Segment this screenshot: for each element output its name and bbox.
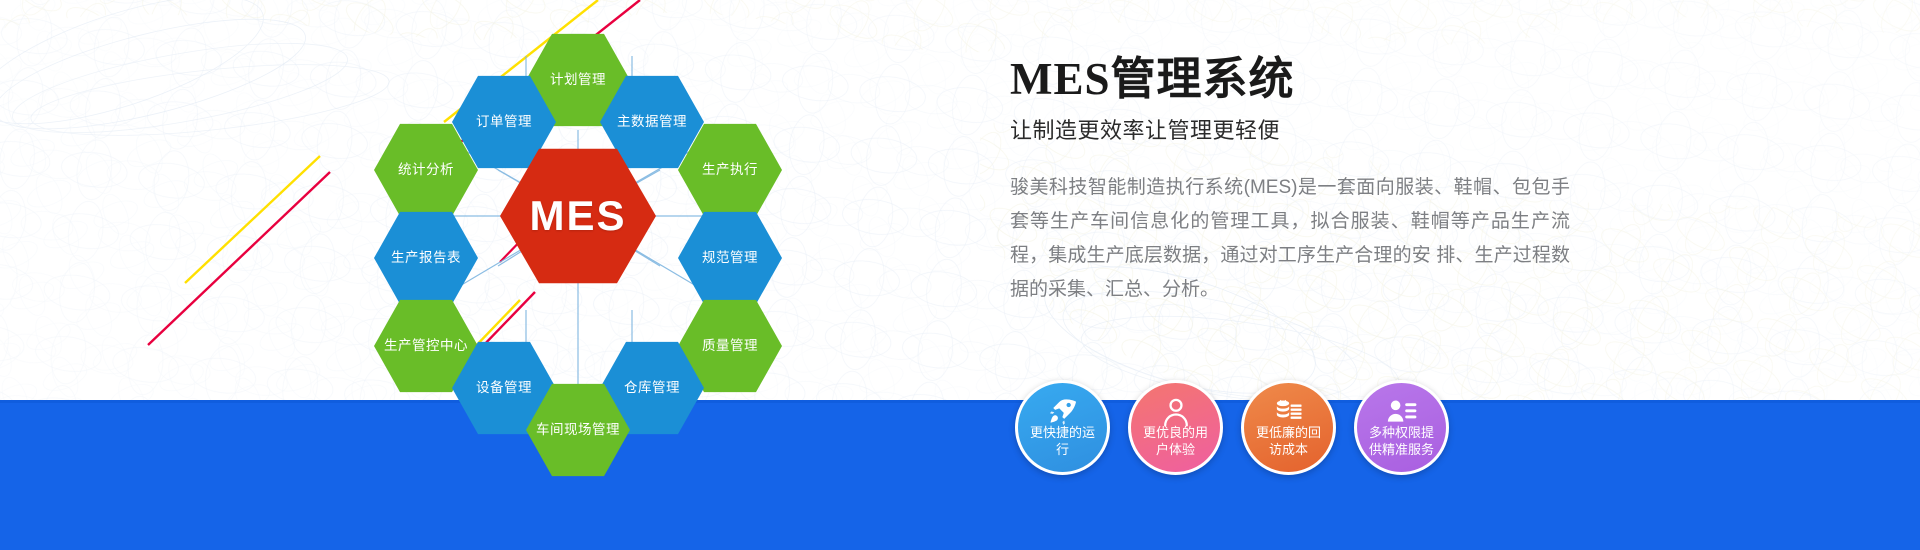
hex-label: 仓库管理 xyxy=(620,380,684,396)
description-paragraph: 骏美科技智能制造执行系统(MES)是一套面向服装、鞋帽、包包手套等生产车间信息化… xyxy=(1010,171,1570,307)
bottom-blue-band xyxy=(0,400,1920,550)
feature-badge-better-user-experience[interactable]: 更优良的用户体验 xyxy=(1128,380,1223,475)
hex-label: 主数据管理 xyxy=(613,114,691,130)
hex-label: 设备管理 xyxy=(472,380,536,396)
feature-badge-lower-revisit-cost[interactable]: 更低廉的回访成本 xyxy=(1241,380,1336,475)
hex-label: 统计分析 xyxy=(394,162,458,178)
badge-label: 更低廉的回访成本 xyxy=(1244,424,1333,458)
hex-label: 订单管理 xyxy=(472,114,536,130)
badge-label: 多种权限提供精准服务 xyxy=(1357,424,1446,458)
hex-label: 生产报告表 xyxy=(387,250,465,266)
badge-label: 更快捷的运行 xyxy=(1018,424,1107,458)
feature-badge-faster-operation[interactable]: 更快捷的运行 xyxy=(1015,380,1110,475)
hex-label: 生产执行 xyxy=(698,162,762,178)
hex-label: 计划管理 xyxy=(546,72,610,88)
mes-promotional-banner: 计划管理 订单管理 主数据管理 统计分析 生产执行 生产报告表 规范管理 生产管… xyxy=(0,0,1920,550)
banner-content: MES管理系统 让制造更效率让管理更轻便 骏美科技智能制造执行系统(MES)是一… xyxy=(1010,55,1610,307)
page-title: MES管理系统 xyxy=(1010,55,1610,105)
hex-label: 车间现场管理 xyxy=(532,422,624,438)
hex-core-label: MES xyxy=(525,191,630,241)
badge-label: 更优良的用户体验 xyxy=(1131,424,1220,458)
hex-label: 质量管理 xyxy=(698,338,762,354)
feature-badge-list: 更快捷的运行 更优良的用户体验 xyxy=(1015,380,1449,475)
feature-badge-permission-service[interactable]: 多种权限提供精准服务 xyxy=(1354,380,1449,475)
hex-label: 生产管控中心 xyxy=(380,338,472,354)
mes-hexagon-diagram: 计划管理 订单管理 主数据管理 统计分析 生产执行 生产报告表 规范管理 生产管… xyxy=(330,10,850,440)
page-subtitle: 让制造更效率让管理更轻便 xyxy=(1010,113,1610,145)
hex-label: 规范管理 xyxy=(698,250,762,266)
